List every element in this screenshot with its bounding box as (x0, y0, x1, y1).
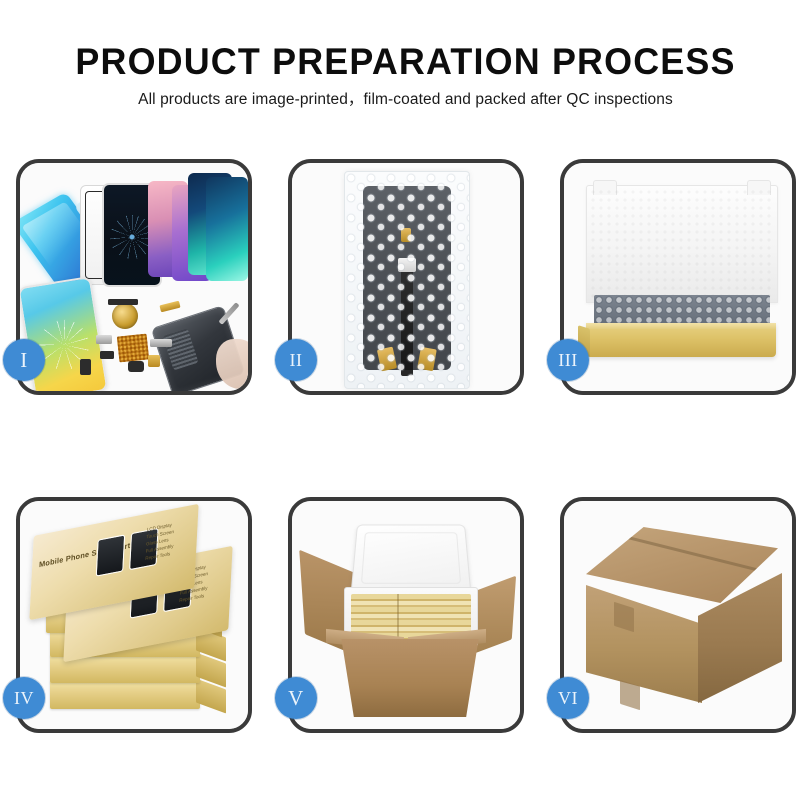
mailer-box-gold-base (586, 323, 776, 357)
carton-front-panel (332, 639, 488, 717)
mailer-box-lid (586, 185, 778, 303)
step-image-6 (564, 501, 792, 729)
step-numeral-2: II (290, 351, 303, 369)
spare-part-small-1 (100, 351, 114, 359)
spare-part-connector (96, 335, 112, 344)
carton-top-seam (611, 532, 764, 573)
box-label-specs-top: LCD Display Touch Screen Glass Lens Full… (145, 518, 190, 562)
process-step-grid: I II (0, 0, 811, 811)
step-panel-6[interactable]: VI (560, 497, 796, 733)
step-panel-1[interactable]: I (16, 159, 252, 395)
hand-holding-part (216, 339, 248, 389)
step-numeral-6: VI (558, 689, 578, 707)
spare-part-strip (108, 299, 138, 305)
step-panel-3[interactable]: III (560, 159, 796, 395)
step-badge-2: II (275, 339, 317, 381)
stacked-box-bottom-1 (50, 681, 200, 709)
ic-chip-grid-part (117, 334, 150, 363)
step-numeral-5: V (288, 688, 304, 709)
box-base-lip (586, 323, 776, 329)
step-image-5 (292, 501, 520, 729)
spare-part-small-4 (148, 355, 160, 367)
step-badge-4: IV (3, 677, 45, 719)
step-panel-2[interactable]: II (288, 159, 524, 395)
step-image-2 (292, 163, 520, 391)
step-panel-4[interactable]: Mobile Phone Spare Parts LCD Display Tou… (16, 497, 252, 733)
gold-box-stack: Mobile Phone Spare Parts LCD Display Tou… (24, 515, 248, 725)
step-panel-5[interactable]: V (288, 497, 524, 733)
carton-left-face (586, 585, 702, 703)
spare-part-small-2 (128, 361, 144, 372)
step-image-1 (20, 163, 248, 391)
bubble-texture (345, 172, 469, 388)
carton-tape-patch-2 (620, 680, 640, 710)
lid-foam-texture (589, 188, 775, 300)
speaker-coil-part (112, 303, 138, 329)
step-badge-3: III (547, 339, 589, 381)
spare-part-small-5 (80, 359, 91, 375)
step-numeral-4: IV (14, 689, 34, 707)
step-badge-6: VI (547, 677, 589, 719)
step-badge-1: I (3, 339, 45, 381)
step-numeral-3: III (558, 351, 577, 369)
box-label-photo-3 (96, 534, 125, 576)
phone-screen-teal-2 (206, 177, 248, 281)
product-preparation-infographic: PRODUCT PREPARATION PROCESS All products… (0, 0, 811, 811)
spare-part-small-3 (150, 339, 172, 347)
foam-box-lid (351, 525, 472, 594)
spare-part-gold-flex (159, 301, 180, 313)
step-image-3 (564, 163, 792, 391)
step-badge-5: V (275, 677, 317, 719)
bubble-wrap-bag (344, 171, 470, 389)
step-numeral-1: I (20, 350, 28, 371)
step-image-4: Mobile Phone Spare Parts LCD Display Tou… (20, 501, 248, 729)
